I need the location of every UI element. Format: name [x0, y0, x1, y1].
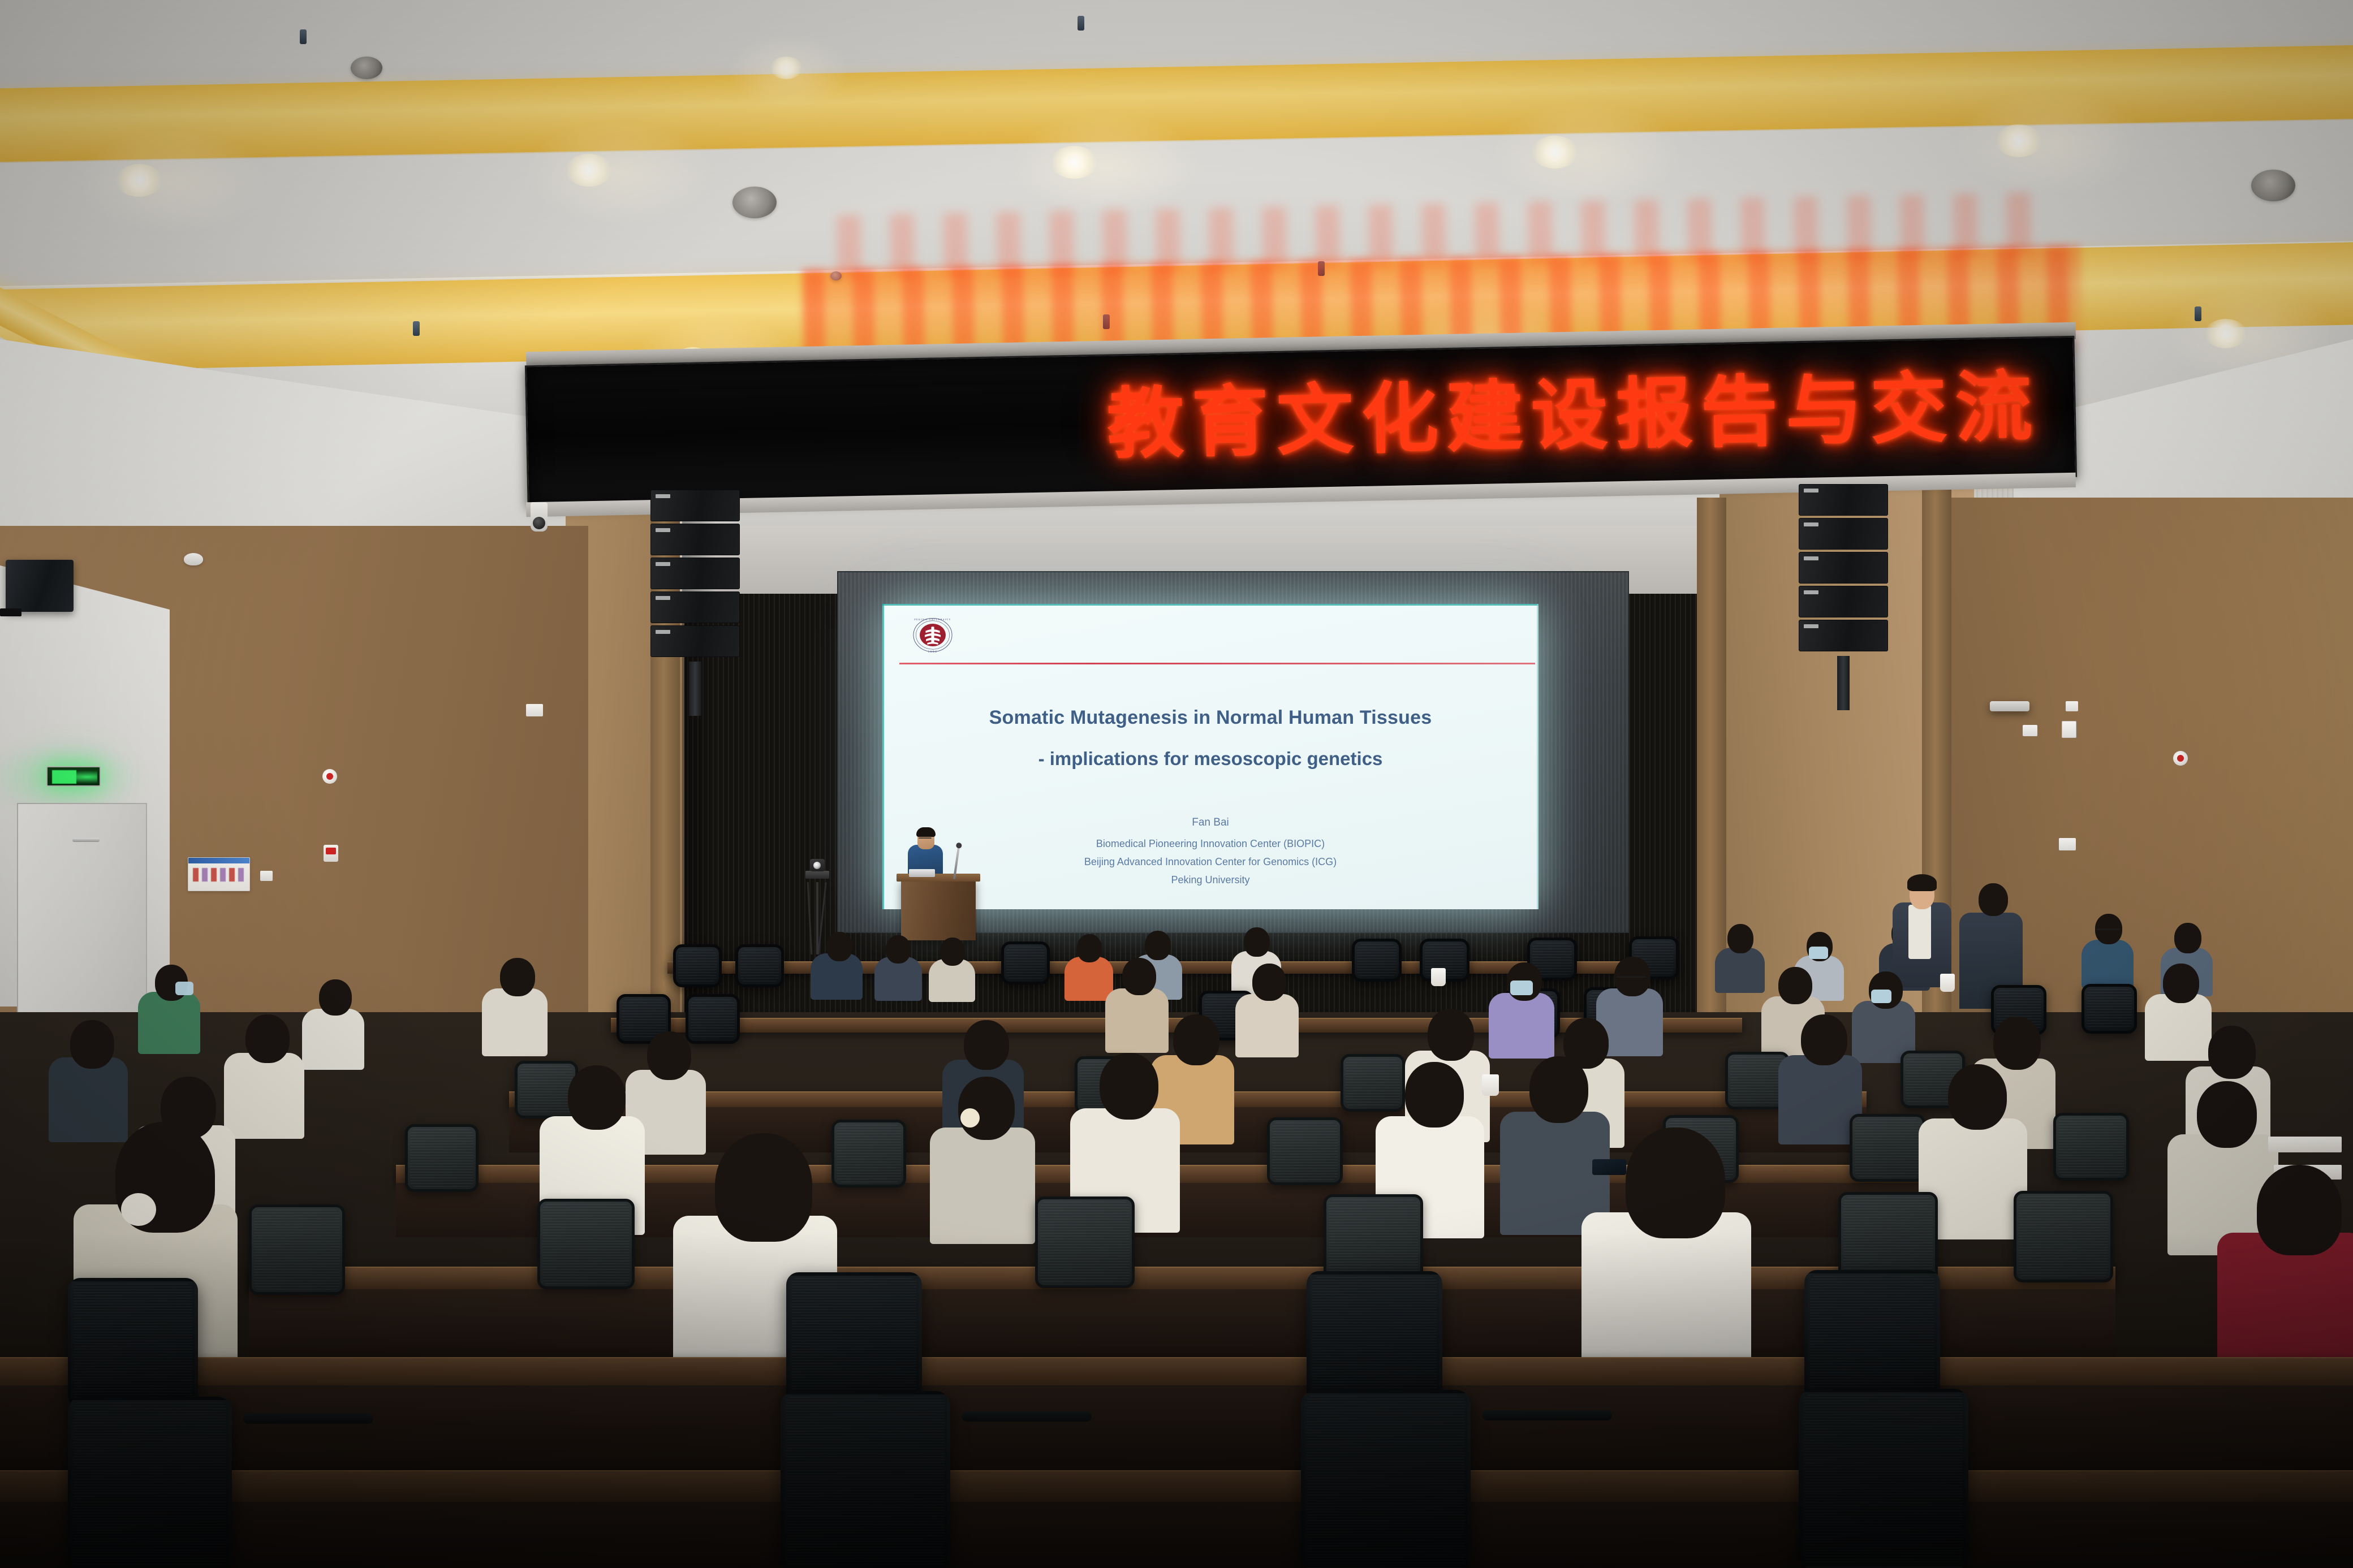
sprinkler-head: [300, 29, 307, 44]
chair: [537, 1199, 635, 1289]
chair: [1001, 941, 1050, 984]
ceiling-diffuser: [2251, 170, 2295, 201]
desk-row-nearest: [0, 1470, 2353, 1504]
slide-affiliation-1: Biomedical Pioneering Innovation Center …: [882, 838, 1539, 850]
sprinkler-head: [1078, 16, 1084, 31]
sprinkler-head: [1318, 261, 1325, 276]
chair-empty: [1301, 1390, 1471, 1568]
ceiling-diffuser: [830, 271, 842, 280]
door-handle: [72, 838, 100, 842]
ceiling-ptz-camera: [531, 502, 548, 532]
chair: [249, 1204, 345, 1295]
wall-outlet: [260, 871, 273, 881]
downlight-glow: [1957, 92, 2144, 193]
desk-front-nearest: [0, 1502, 2353, 1568]
chair: [2053, 1113, 2129, 1181]
downlight: [566, 154, 612, 187]
wall-outlet: [526, 704, 543, 716]
wall-mounted-speaker: [6, 560, 74, 612]
chair: [1352, 939, 1402, 982]
tripod-leg: [816, 882, 818, 954]
wall-outlet: [2023, 725, 2037, 736]
smoke-detector: [184, 553, 203, 565]
wooden-podium: [901, 879, 976, 940]
wall-switch: [2062, 721, 2076, 738]
chair: [405, 1124, 479, 1192]
sprinkler-head: [2195, 306, 2201, 321]
fire-alarm-strobe: [324, 845, 338, 862]
speaker-module: [650, 490, 740, 521]
paper-cup: [1431, 968, 1446, 986]
desk-front-6: [0, 1385, 2353, 1476]
wall-notice-poster: [188, 857, 250, 891]
chair-empty: [786, 1272, 922, 1408]
downlight-glow: [79, 130, 266, 232]
downlight-glow: [526, 122, 713, 223]
presenter-glasses: [919, 837, 932, 840]
slide-author: Fan Bai: [882, 817, 1539, 829]
speaker-module: [1799, 518, 1888, 550]
chair: [831, 1120, 906, 1187]
chair-armrest: [243, 1414, 373, 1424]
chair-armrest: [1482, 1410, 1612, 1420]
chair-empty: [68, 1278, 198, 1408]
chair: [1341, 1054, 1405, 1112]
downlight: [1051, 146, 1097, 179]
smartphone: [1592, 1159, 1626, 1175]
downlight: [1532, 136, 1578, 169]
paper-cup: [1482, 1074, 1499, 1096]
chair: [2081, 984, 2137, 1034]
slide-accent-rule: [899, 663, 1535, 664]
wall-outlet: [2059, 838, 2076, 850]
chair: [1850, 1114, 1925, 1182]
downlight-glow: [1493, 103, 1680, 205]
wall-light-fixture: [1990, 701, 2029, 711]
fire-alarm-call-point: [322, 769, 337, 784]
svg-text:PEKING UNIVERSITY: PEKING UNIVERSITY: [914, 618, 951, 621]
line-array-speaker-left: [650, 490, 740, 659]
speaker-bracket: [0, 608, 21, 616]
line-array-speaker-right: [1799, 484, 1888, 654]
screen-edge: [882, 604, 1539, 606]
sprinkler-head: [413, 321, 420, 336]
tripod-camera: [810, 859, 825, 871]
podium-laptop: [909, 869, 935, 877]
chair-armrest: [962, 1411, 1092, 1422]
tripod-head: [805, 871, 829, 879]
speaker-module: [650, 625, 740, 657]
chair-empty: [1799, 1389, 1968, 1568]
running-person-icon: [52, 770, 97, 784]
chair: [673, 944, 722, 987]
downlight-glow: [1012, 113, 1199, 215]
paper-cup: [1940, 974, 1955, 992]
speaker-module: [650, 591, 740, 623]
lecture-hall-photo: 教育文化建设报告与交流: [0, 0, 2353, 1568]
papers: [2268, 1137, 2342, 1152]
fire-alarm-call-point: [2173, 751, 2188, 766]
slide-title: Somatic Mutagenesis in Normal Human Tiss…: [882, 707, 1539, 729]
led-banner-text: 教育文化建设报告与交流: [1106, 369, 2041, 464]
desk-row-6: [0, 1357, 2353, 1388]
downlight: [2205, 319, 2247, 348]
chair-empty: [68, 1397, 232, 1568]
speaker-module: [1799, 484, 1888, 516]
svg-text:1898: 1898: [928, 651, 938, 654]
speaker-module: [1799, 620, 1888, 651]
slide-affiliation-3: Peking University: [882, 874, 1539, 886]
chair: [735, 944, 784, 987]
speaker-mount-stem: [1837, 656, 1850, 710]
downlight: [116, 164, 162, 197]
peking-university-logo: PEKING UNIVERSITY 1898: [912, 614, 954, 656]
chair: [2014, 1191, 2113, 1282]
speaker-module: [1799, 552, 1888, 584]
projection-screen: PEKING UNIVERSITY 1898 Somatic Mutagenes…: [882, 604, 1539, 909]
chair: [686, 994, 740, 1044]
sprinkler-head: [1103, 314, 1110, 329]
chair-empty: [1307, 1271, 1442, 1407]
chair-empty: [781, 1391, 950, 1568]
slide-subtitle: - implications for mesoscopic genetics: [882, 748, 1539, 770]
chair: [1035, 1196, 1135, 1288]
speaker-module: [650, 524, 740, 555]
ceiling-diffuser: [732, 187, 777, 218]
slide-affiliation-2: Beijing Advanced Innovation Center for G…: [882, 856, 1539, 868]
downlight-glow: [730, 34, 848, 107]
downlight: [1996, 124, 2042, 157]
ceiling-diffuser: [351, 57, 382, 79]
chair-empty: [1804, 1270, 1940, 1406]
chair: [1267, 1117, 1343, 1185]
speaker-module: [650, 558, 740, 589]
speaker-mount-stem: [689, 662, 701, 716]
presenter-hair: [916, 827, 936, 837]
emergency-exit-sign: [46, 766, 101, 787]
wall-outlet: [2066, 701, 2078, 711]
speaker-module: [1799, 586, 1888, 617]
